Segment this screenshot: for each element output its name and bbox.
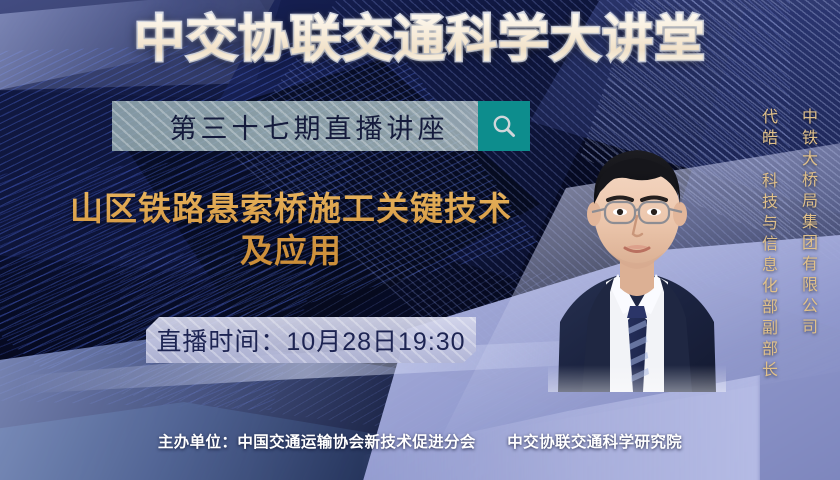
- session-badge: 第三十七期直播讲座: [112, 101, 530, 151]
- lecture-title-line-1: 山区铁路悬索桥施工关键技术: [36, 188, 546, 230]
- speaker-organization: 中铁大桥局集团有限公司: [795, 108, 818, 339]
- session-badge-body: 第三十七期直播讲座: [112, 101, 478, 151]
- live-time-banner: 直播时间：10月28日19:30: [146, 317, 476, 363]
- session-label: 第三十七期直播讲座: [142, 107, 449, 146]
- footer-organizers: 主办单位：中国交通运输协会新技术促进分会 中交协联交通科学研究院: [0, 430, 840, 452]
- search-icon[interactable]: [478, 101, 530, 151]
- lecture-title: 山区铁路悬索桥施工关键技术 及应用: [36, 188, 546, 272]
- poster-headline: 中交协联交通科学大讲堂: [0, 14, 840, 64]
- speaker-portrait: [548, 92, 726, 392]
- footer-host-prefix: 主办单位：中国交通运输协会新技术促进分会: [158, 434, 476, 451]
- live-time-text: 直播时间：10月28日19:30: [156, 322, 465, 358]
- lecture-title-line-2: 及应用: [36, 230, 546, 272]
- footer-second-org: 中交协联交通科学研究院: [507, 434, 682, 451]
- speaker-name-role: 代皓 科技与信息化部副部长: [755, 108, 778, 382]
- livestream-poster: 中交协联交通科学大讲堂 中交协联交通科学大讲堂 第三十七期直播讲座 山区铁路悬索…: [0, 0, 840, 480]
